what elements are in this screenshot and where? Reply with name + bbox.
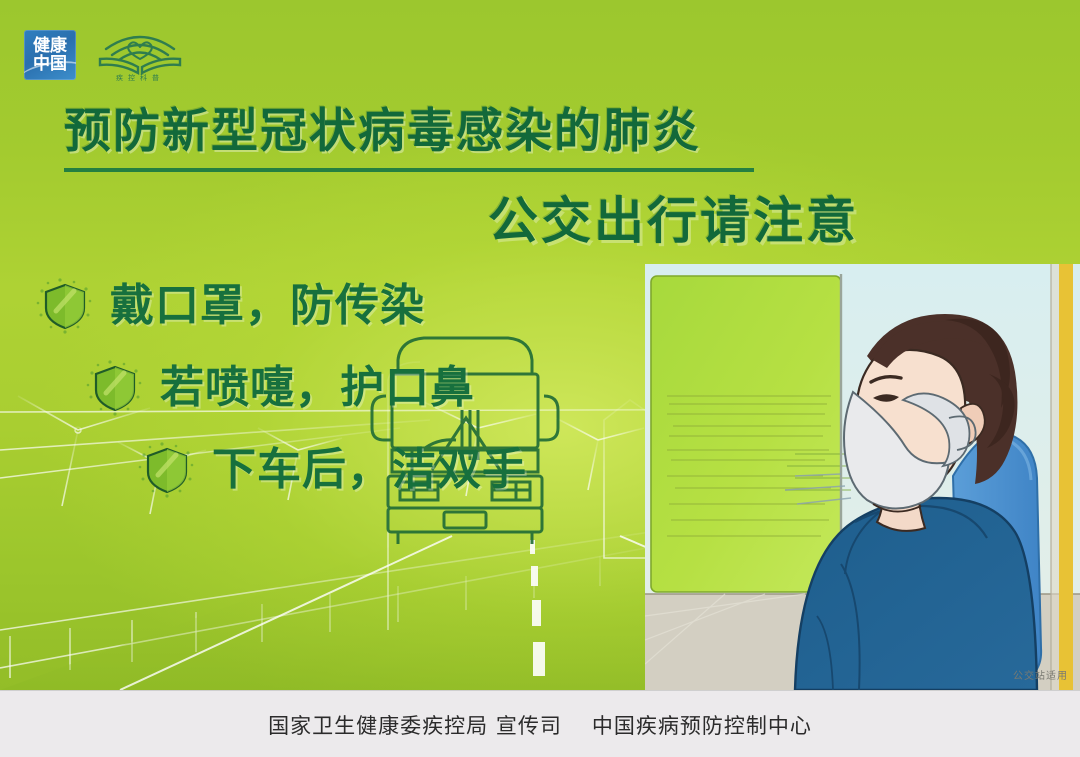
footer-bar: 国家卫生健康委疾控局 宣传司 中国疾病预防控制中心 [0, 690, 1080, 757]
tip-text: 若喷嚏，护口鼻 [160, 363, 475, 413]
title-underline [64, 168, 754, 172]
healthy-china-logo-line2: 中国 [33, 55, 67, 73]
masked-passenger-on-bus: 公交站适用 [645, 264, 1080, 690]
cdc-science-logo-caption: 疾控科普 [94, 73, 186, 83]
shield-icon [84, 357, 146, 419]
healthy-china-logo-line1: 健康 [33, 37, 67, 55]
healthy-china-logo: 健康 中国 [24, 30, 76, 80]
footer-org1: 国家卫生健康委疾控局 宣传司 [268, 710, 562, 740]
footer-org2: 中国疾病预防控制中心 [592, 710, 812, 740]
list-item: 下车后，洁双手 [136, 439, 640, 501]
shield-icon [34, 275, 96, 337]
page-title-line2: 公交出行请注意 [488, 192, 1048, 250]
tip-text: 下车后，洁双手 [212, 445, 527, 495]
illustration-caption: 公交站适用 [1013, 667, 1068, 682]
poster-canvas: 健康 中国 疾控科普 预防新型冠状病毒感染的肺炎 [0, 0, 1080, 690]
list-item: 若喷嚏，护口鼻 [84, 357, 640, 419]
poster-root: 健康 中国 疾控科普 预防新型冠状病毒感染的肺炎 [0, 0, 1080, 757]
logo-group: 健康 中国 疾控科普 [24, 27, 186, 83]
tips-list: 戴口罩，防传染 [0, 275, 640, 521]
page-title-line1: 预防新型冠状病毒感染的肺炎 [64, 105, 764, 159]
tip-text: 戴口罩，防传染 [110, 281, 425, 331]
list-item: 戴口罩，防传染 [34, 275, 640, 337]
shield-icon [136, 439, 198, 501]
cdc-science-logo: 疾控科普 [94, 27, 186, 83]
